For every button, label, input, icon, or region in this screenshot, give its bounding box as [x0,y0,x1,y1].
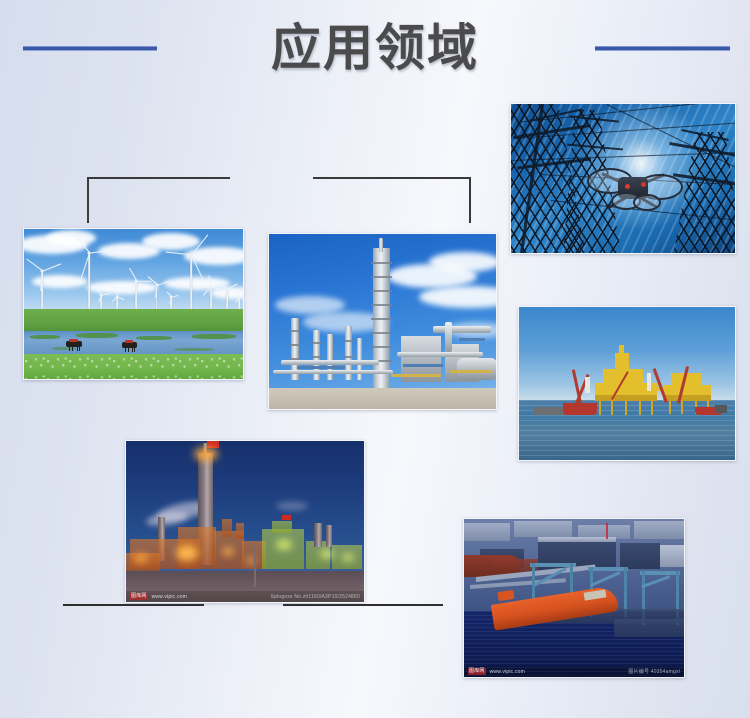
watermark-url: www.vipic.com [490,669,525,675]
page-header: 应用领域 [0,0,750,100]
photo-wind-power[interactable] [23,228,244,380]
petrochemical-scene [269,234,496,409]
watermark-id: 图片编号 40354amgxl [628,668,680,675]
photo-petrochemical-plant[interactable] [268,233,497,410]
distillation-tower [373,248,390,388]
watermark-url: www.vipic.com [152,594,187,600]
refinery-night-scene: 图库网 www.vipic.com Splogoxx No.zh1160/A3P… [126,441,364,602]
photo-offshore-platform[interactable] [518,306,736,461]
pipe [445,322,452,352]
photo-power-transmission[interactable] [510,103,736,254]
bracket-top-left [87,177,230,223]
wind-turbine [184,255,198,315]
bracket-top-left-horizontal [87,177,230,179]
bracket-top-right-vertical [469,177,471,223]
watermark-id: Splogoxx No.zh1160/A3P10/2524860 [271,594,360,600]
watermark: 图库网 www.vipic.com Splogoxx No.zh1160/A3P… [126,591,364,602]
pipe [273,370,393,374]
watermark-logo: 图库网 [468,668,486,675]
horse [66,341,82,347]
header-rule-right [595,46,730,51]
pipe [281,360,379,365]
pipe [397,352,483,357]
plant-ground [269,388,496,409]
pipe [433,326,491,333]
power-grid-scene [511,104,735,253]
storage-vessel [457,358,496,380]
support-vessel [563,403,597,415]
port-scene: 图库网 www.vipic.com 图片编号 40354amgxl [464,519,684,677]
inspection-drone [585,162,681,214]
rule-bottom-left [63,604,204,606]
bracket-top-left-vertical [87,177,89,223]
wind-power-scene [24,229,243,379]
application-fields-page: 应用领域 [0,0,750,718]
offshore-scene [519,307,735,460]
photo-port-terminal[interactable]: 图库网 www.vipic.com 图片编号 40354amgxl [463,518,685,678]
flare-glow [194,447,218,461]
grassland-foreground [24,354,243,380]
bracket-top-right-horizontal [313,177,471,179]
wind-turbine [82,253,96,315]
watermark: 图库网 www.vipic.com 图片编号 40354amgxl [464,666,684,677]
bracket-top-right [313,177,471,223]
warehouse [620,543,660,569]
lamp-post [254,545,256,587]
rule-bottom-right [283,604,443,606]
horse [122,342,137,348]
watermark-logo: 图库网 [130,593,148,600]
derrick [615,353,629,371]
photo-refinery-night[interactable]: 图库网 www.vipic.com Splogoxx No.zh1160/A3P… [125,440,365,603]
